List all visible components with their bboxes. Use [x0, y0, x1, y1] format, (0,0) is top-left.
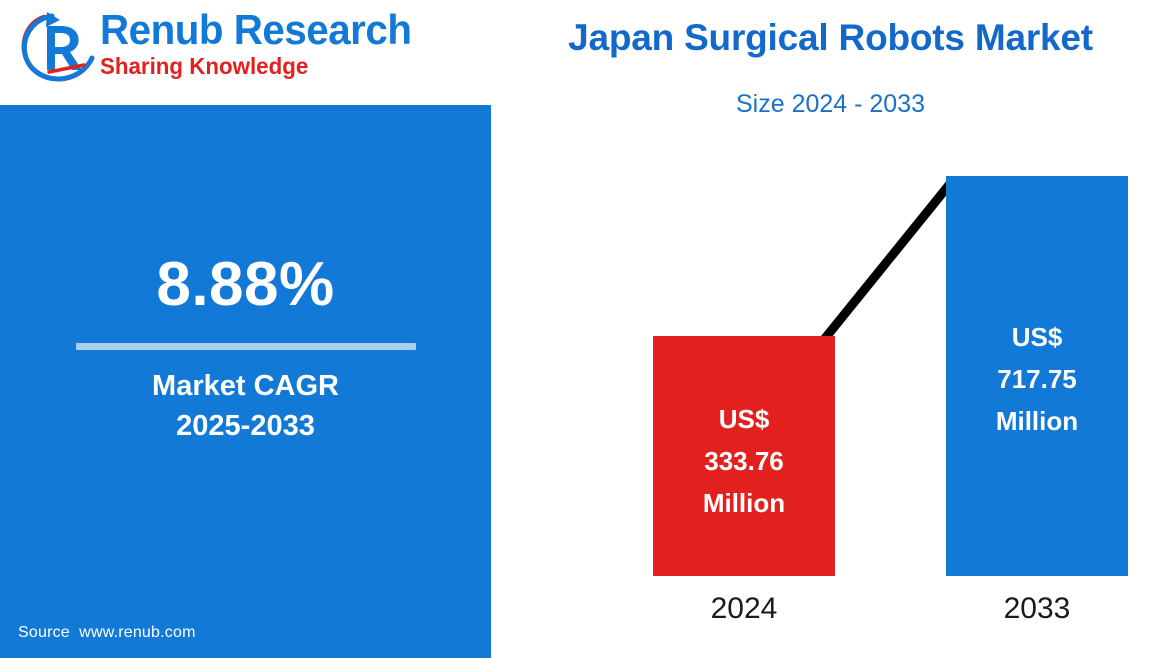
chart-area: Japan Surgical Robots Market Size 2024 -… — [491, 0, 1170, 658]
bar-2033-number: 717.75 — [946, 358, 1128, 400]
bar-chart-plot: US$ 333.76 Million US$ 717.75 Million 20… — [491, 0, 1170, 658]
cagr-panel: 8.88% Market CAGR 2025-2033 Source www.r… — [0, 105, 491, 658]
infographic-canvas: Renub Research Sharing Knowledge 8.88% M… — [0, 0, 1170, 658]
bar-2024-number: 333.76 — [653, 440, 835, 482]
cagr-label: Market CAGR — [0, 366, 491, 406]
cagr-value: 8.88% — [0, 250, 491, 320]
brand-name: Renub Research — [100, 8, 388, 52]
cagr-divider — [76, 343, 416, 350]
cagr-period: 2025-2033 — [0, 406, 491, 446]
brand-tagline: Sharing Knowledge — [100, 53, 391, 79]
bar-2024-currency: US$ — [653, 398, 835, 440]
brand-logo: Renub Research Sharing Knowledge — [8, 4, 408, 96]
axis-label-2033: 2033 — [946, 592, 1128, 626]
bar-2024-unit: Million — [653, 482, 835, 524]
bar-2024-value-label: US$ 333.76 Million — [653, 398, 835, 524]
bar-2024: US$ 333.76 Million — [653, 336, 835, 576]
bar-2033: US$ 717.75 Million — [946, 176, 1128, 576]
bar-2033-unit: Million — [946, 400, 1128, 442]
brand-wordmark: Renub Research Sharing Knowledge — [100, 8, 400, 79]
axis-label-2024: 2024 — [653, 592, 835, 626]
source-note: Source www.renub.com — [18, 624, 196, 642]
bar-2033-value-label: US$ 717.75 Million — [946, 316, 1128, 442]
bar-2033-currency: US$ — [946, 316, 1128, 358]
renub-logo-mark-icon — [14, 8, 100, 88]
cagr-stack: 8.88% Market CAGR 2025-2033 — [0, 250, 491, 446]
